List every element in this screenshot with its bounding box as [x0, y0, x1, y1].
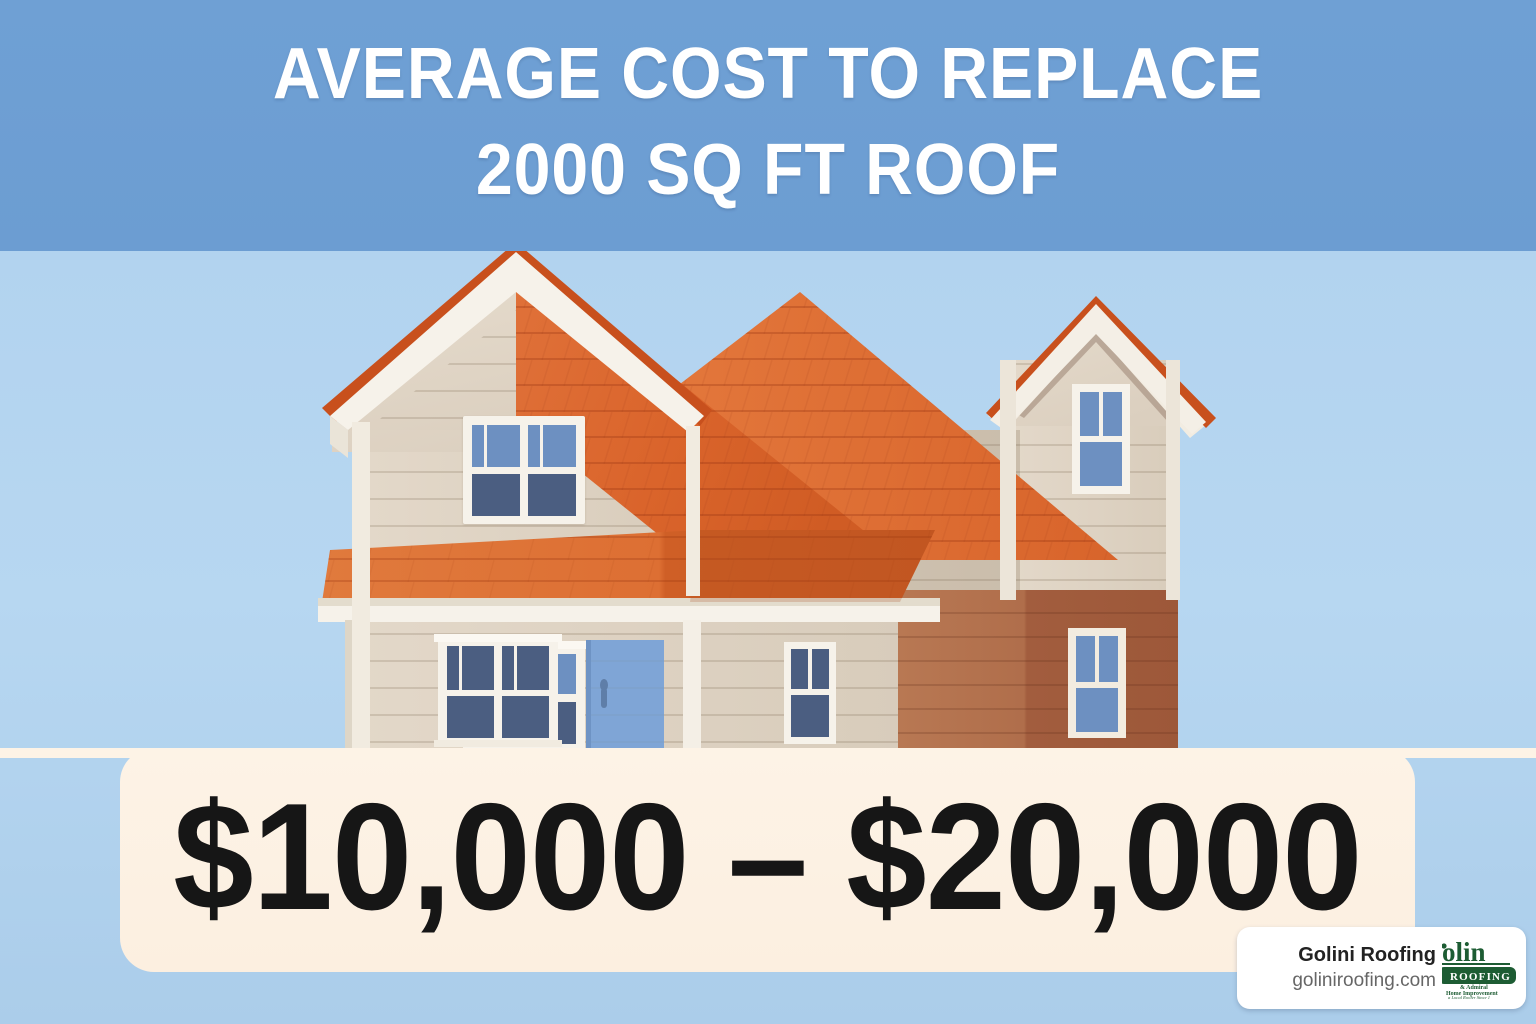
svg-text:ROOFING: ROOFING [1450, 971, 1511, 983]
corner-trim-left [352, 422, 370, 770]
header-band: AVERAGE COST TO REPLACE 2000 SQ FT ROOF [0, 0, 1536, 251]
svg-text:a Local Roofer Since 1: a Local Roofer Since 1 [1448, 995, 1490, 999]
window-porch-main [434, 634, 562, 747]
window-right-gable [1072, 384, 1130, 494]
window-second-floor-overlay [463, 416, 585, 524]
house-illustration [0, 230, 1536, 770]
logo-badge[interactable]: Golini Roofing goliniroofing.com olin RO… [1237, 927, 1526, 1009]
window-porch-right [784, 642, 836, 744]
price-range-text: $10,000 – $20,000 [173, 781, 1361, 933]
logo-text-block: Golini Roofing goliniroofing.com [1251, 943, 1442, 993]
golini-roofing-logo-icon: olin ROOFING & Admiral Home Improvement … [1442, 937, 1516, 999]
roof-cost-infographic: AVERAGE COST TO REPLACE 2000 SQ FT ROOF … [0, 0, 1536, 1024]
corner-trim-far-right [1166, 360, 1180, 600]
window-brick-wall [1068, 628, 1126, 738]
corner-trim-right [1000, 360, 1016, 600]
logo-company-name: Golini Roofing [1251, 943, 1436, 968]
page-title: AVERAGE COST TO REPLACE 2000 SQ FT ROOF [61, 26, 1474, 218]
corner-trim-mid [686, 426, 700, 596]
logo-website-url[interactable]: goliniroofing.com [1251, 968, 1436, 993]
price-panel: $10,000 – $20,000 [120, 748, 1415, 972]
svg-text:olin: olin [1442, 937, 1486, 967]
